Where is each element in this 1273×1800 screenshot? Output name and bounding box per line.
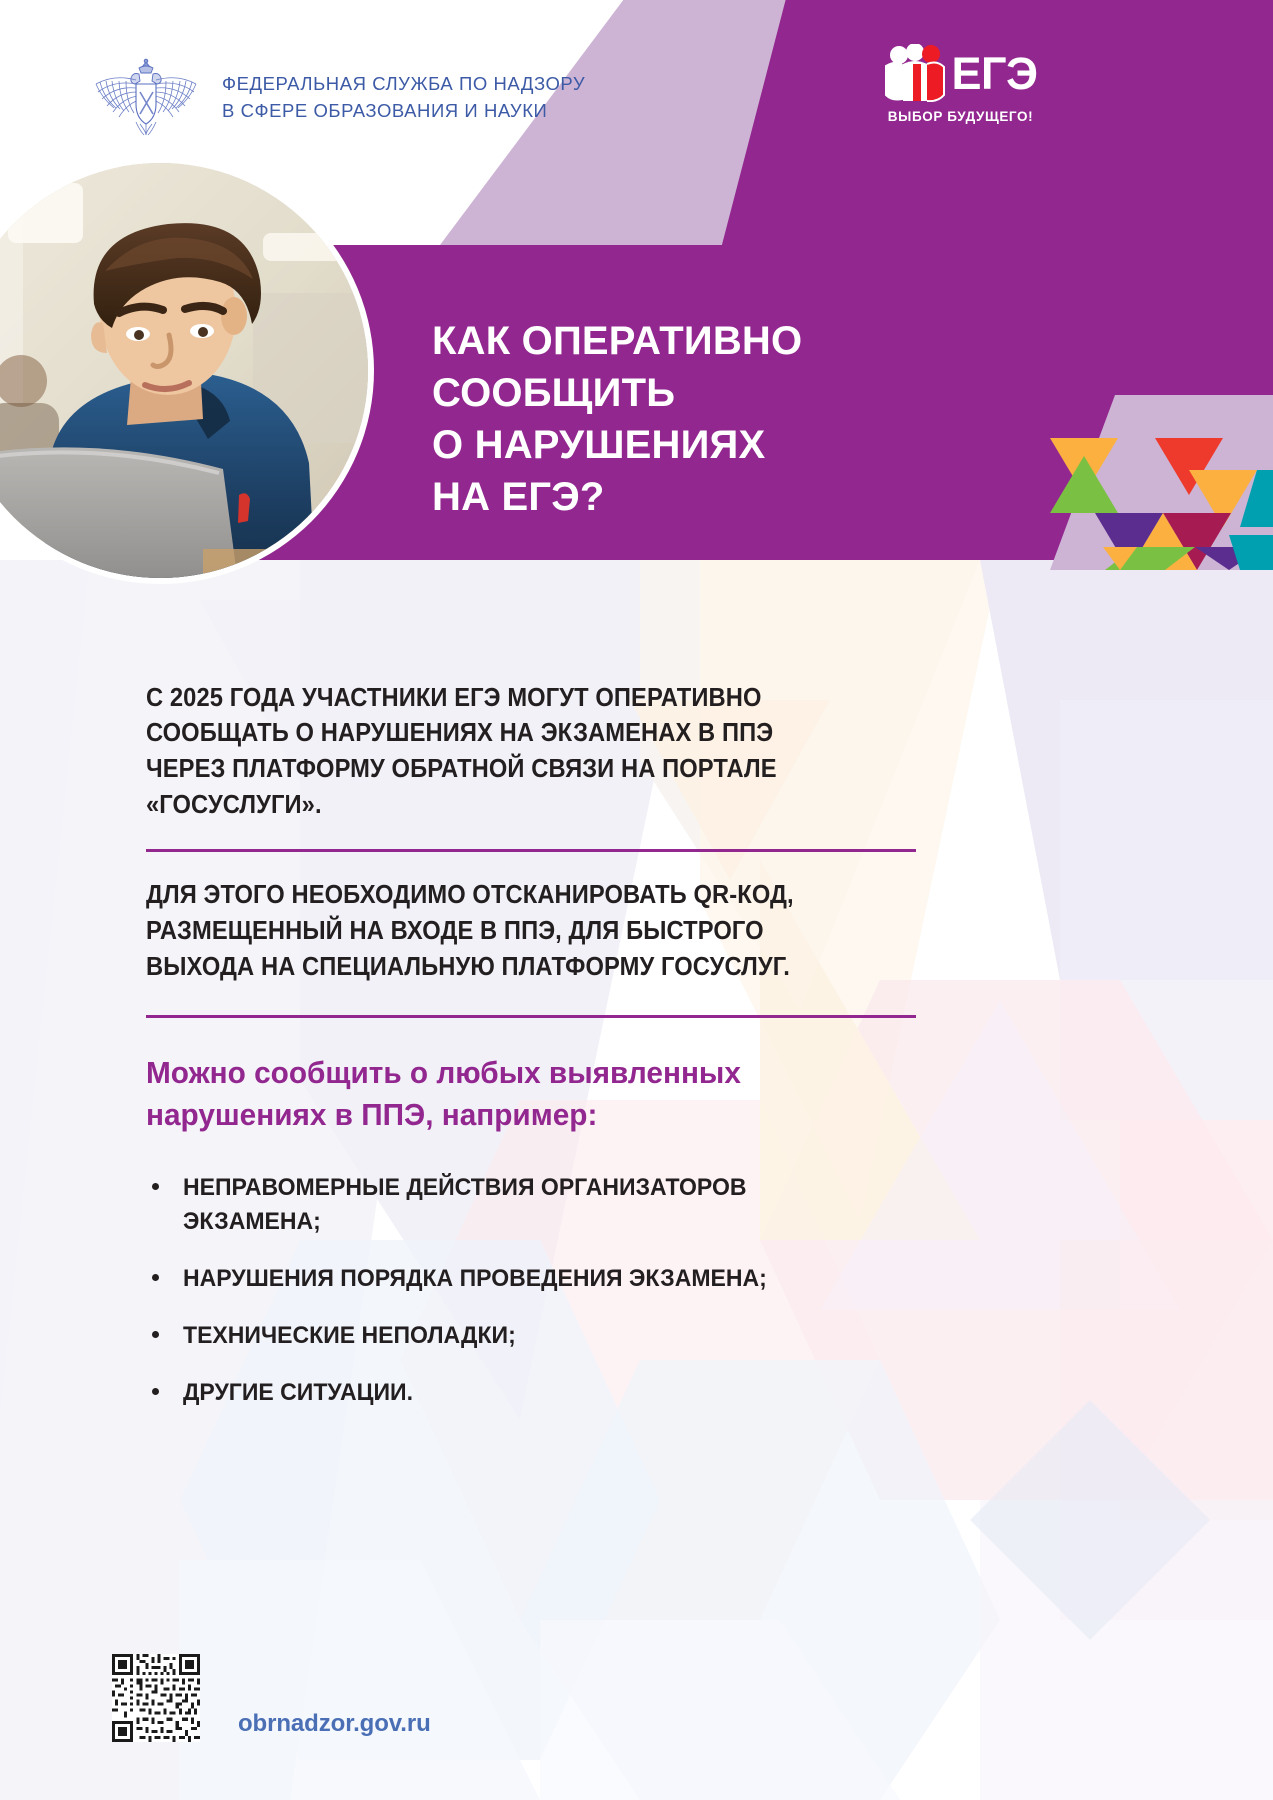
ege-wordmark: ЕГЭ [951,51,1037,96]
footer: obrnadzor.gov.ru [112,1654,431,1742]
bullet-dot-icon [152,1183,159,1190]
bullet-dot-icon [152,1274,159,1281]
list-item: НЕПРАВОМЕРНЫЕ ДЕЙСТВИЯ ОРГАНИЗАТОРОВ ЭКЗ… [146,1171,906,1241]
qr-code-icon[interactable] [112,1654,200,1742]
page-title: КАК ОПЕРАТИВНО СООБЩИТЬ О НАРУШЕНИЯХ НА … [432,315,952,523]
ege-tagline: ВЫБОР БУДУЩЕГО! [888,109,1033,124]
bullet-dot-icon [152,1331,159,1338]
ege-logo: ЕГЭ ВЫБОР БУДУЩЕГО! [868,44,1053,124]
rosobrnadzor-emblem-icon [92,58,200,136]
subheading: Можно сообщить о любых выявленных наруше… [146,1052,876,1136]
poster-root: ФЕДЕРАЛЬНАЯ СЛУЖБА ПО НАДЗОРУ В СФЕРЕ ОБ… [0,0,1273,1800]
divider-two [146,1015,916,1018]
list-item-label: НАРУШЕНИЯ ПОРЯДКА ПРОВЕДЕНИЯ ЭКЗАМЕНА; [183,1262,767,1297]
content-area: С 2025 ГОДА УЧАСТНИКИ ЕГЭ МОГУТ ОПЕРАТИВ… [146,655,906,1433]
ege-people-icon [883,44,947,102]
organization-name: ФЕДЕРАЛЬНАЯ СЛУЖБА ПО НАДЗОРУ В СФЕРЕ ОБ… [222,70,585,125]
organization-branding: ФЕДЕРАЛЬНАЯ СЛУЖБА ПО НАДЗОРУ В СФЕРЕ ОБ… [92,58,585,136]
triangle-decoration [940,395,1273,570]
paragraph-one: С 2025 ГОДА УЧАСТНИКИ ЕГЭ МОГУТ ОПЕРАТИВ… [146,681,853,824]
list-item-label: ДРУГИЕ СИТУАЦИИ. [183,1376,413,1411]
list-item-label: ТЕХНИЧЕСКИЕ НЕПОЛАДКИ; [183,1319,516,1354]
paragraph-two: ДЛЯ ЭТОГО НЕОБХОДИМО ОТСКАНИРОВАТЬ QR-КО… [146,878,853,985]
list-item: ТЕХНИЧЕСКИЕ НЕПОЛАДКИ; [146,1319,906,1354]
list-item: НАРУШЕНИЯ ПОРЯДКА ПРОВЕДЕНИЯ ЭКЗАМЕНА; [146,1262,906,1297]
website-url[interactable]: obrnadzor.gov.ru [238,1710,431,1742]
violations-list: НЕПРАВОМЕРНЫЕ ДЕЙСТВИЯ ОРГАНИЗАТОРОВ ЭКЗ… [146,1171,906,1411]
bullet-dot-icon [152,1388,159,1395]
list-item: ДРУГИЕ СИТУАЦИИ. [146,1376,906,1411]
divider-one [146,849,916,852]
list-item-label: НЕПРАВОМЕРНЫЕ ДЕЙСТВИЯ ОРГАНИЗАТОРОВ ЭКЗ… [183,1171,747,1241]
